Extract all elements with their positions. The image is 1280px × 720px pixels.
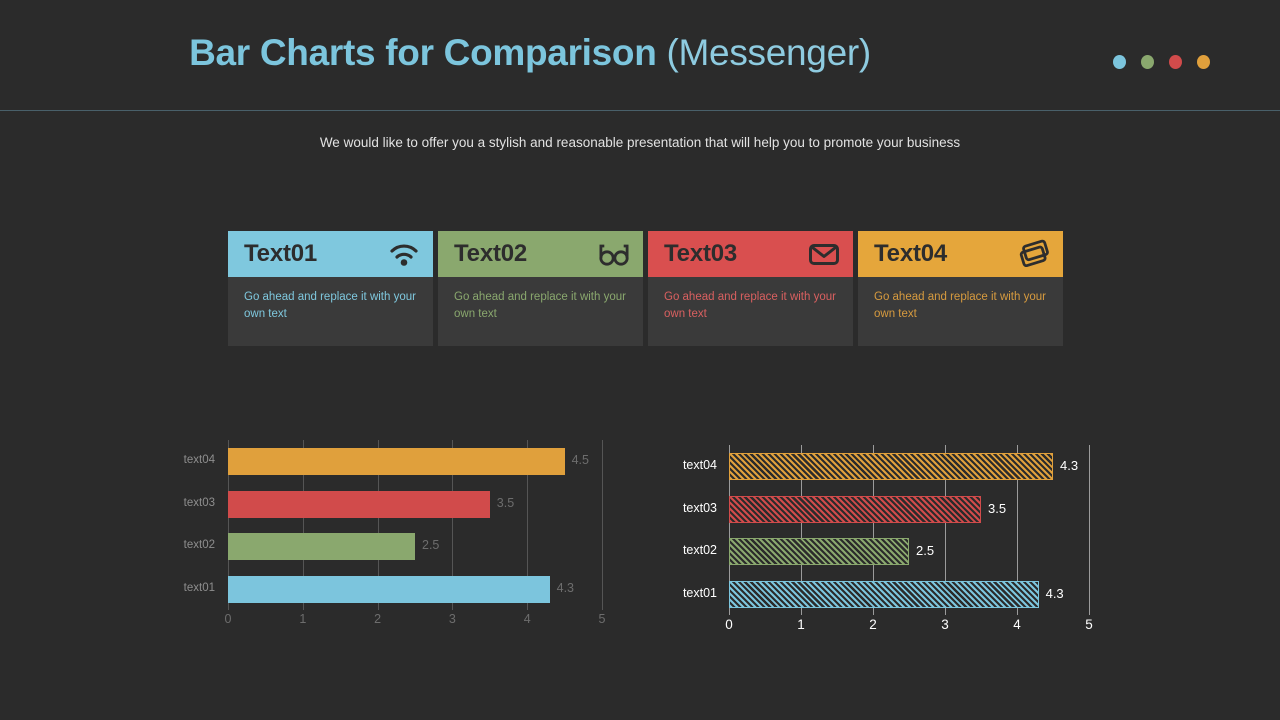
wifi-icon — [387, 238, 421, 270]
header-divider — [0, 110, 1280, 111]
bar-row: text022.5 — [228, 525, 602, 568]
feature-card-text02[interactable]: Text02 Go ahead and replace it with your… — [438, 231, 643, 346]
bar-category-label: text01 — [683, 586, 729, 600]
bar-value-label: 4.5 — [565, 453, 589, 467]
bar-row: text033.5 — [729, 488, 1089, 531]
feature-card-body: Go ahead and replace it with your own te… — [438, 277, 643, 323]
slide: Bar Charts for Comparison (Messenger) We… — [0, 0, 1280, 720]
x-tick-label: 5 — [599, 612, 606, 626]
envelope-stack-icon — [1017, 238, 1051, 270]
dot-orange-icon — [1197, 55, 1210, 69]
bar-category-label: text04 — [683, 458, 729, 472]
bar-row: text014.3 — [228, 568, 602, 611]
gridline — [602, 440, 603, 610]
bar — [228, 491, 490, 518]
x-tick-label: 1 — [299, 612, 306, 626]
page-title: Bar Charts for Comparison (Messenger) — [0, 28, 1060, 78]
page-title-sub: (Messenger) — [667, 32, 871, 73]
feature-card-header: Text02 — [438, 231, 643, 277]
dot-green-icon — [1141, 55, 1154, 69]
feature-card-text01[interactable]: Text01 Go ahead and replace it with your… — [228, 231, 433, 346]
feature-card-title: Text02 — [454, 240, 527, 268]
bar-value-label: 4.3 — [1053, 458, 1078, 473]
bar-row: text044.5 — [228, 440, 602, 483]
plot-area: text044.3text033.5text022.5text014.3 — [729, 445, 1089, 615]
x-tick-label: 4 — [1013, 617, 1021, 632]
bar — [228, 533, 415, 560]
feature-card-body: Go ahead and replace it with your own te… — [648, 277, 853, 323]
bar-row: text014.3 — [729, 573, 1089, 616]
feature-card-body: Go ahead and replace it with your own te… — [228, 277, 433, 323]
bar — [228, 448, 565, 475]
plot-area: text044.5text033.5text022.5text014.3 — [228, 440, 602, 610]
bar-category-label: text01 — [184, 582, 228, 594]
header-dots — [1110, 55, 1220, 71]
bar — [729, 453, 1053, 480]
x-axis-ticks: 012345 — [729, 617, 1089, 643]
bar-category-label: text04 — [184, 454, 228, 466]
bar-value-label: 2.5 — [909, 543, 934, 558]
x-tick-label: 3 — [449, 612, 456, 626]
x-tick-label: 2 — [374, 612, 381, 626]
feature-card-text04[interactable]: Text04 Go ahead and replace it with your… — [858, 231, 1063, 346]
bar-category-label: text02 — [184, 539, 228, 551]
bar-value-label: 4.3 — [550, 581, 574, 595]
x-axis-ticks: 012345 — [228, 612, 602, 638]
glasses-icon — [597, 238, 631, 270]
bar — [729, 496, 981, 523]
bar-chart-hatched: text044.3text033.5text022.5text014.3 012… — [660, 445, 1110, 650]
feature-card-title: Text04 — [874, 240, 947, 268]
feature-card-title: Text03 — [664, 240, 737, 268]
bar — [228, 576, 550, 603]
feature-card-header: Text03 — [648, 231, 853, 277]
x-tick-label: 2 — [869, 617, 877, 632]
bar-value-label: 4.3 — [1039, 586, 1064, 601]
feature-card-header: Text01 — [228, 231, 433, 277]
dot-blue-icon — [1113, 55, 1126, 69]
slide-header: Bar Charts for Comparison (Messenger) — [0, 0, 1280, 110]
section-divider: This is an example text. — [0, 375, 1280, 420]
bar-category-label: text03 — [683, 501, 729, 515]
subtitle: We would like to offer you a stylish and… — [0, 135, 1280, 150]
bar-value-label: 3.5 — [490, 496, 514, 510]
gridline — [1089, 445, 1090, 615]
envelope-icon — [807, 238, 841, 270]
feature-card-body: Go ahead and replace it with your own te… — [858, 277, 1063, 323]
bar-category-label: text03 — [184, 497, 228, 509]
bar-value-label: 2.5 — [415, 538, 439, 552]
bar-chart-solid: text044.5text033.5text022.5text014.3 012… — [160, 440, 620, 650]
x-tick-label: 4 — [524, 612, 531, 626]
page-title-main: Bar Charts for Comparison — [189, 32, 656, 73]
dot-red-icon — [1169, 55, 1182, 69]
bar-category-label: text02 — [683, 543, 729, 557]
bar — [729, 538, 909, 565]
bar-value-label: 3.5 — [981, 501, 1006, 516]
feature-cards: Text01 Go ahead and replace it with your… — [228, 231, 1064, 346]
bar — [729, 581, 1039, 608]
bar-row: text022.5 — [729, 530, 1089, 573]
x-tick-label: 5 — [1085, 617, 1093, 632]
x-tick-label: 3 — [941, 617, 949, 632]
feature-card-header: Text04 — [858, 231, 1063, 277]
x-tick-label: 1 — [797, 617, 805, 632]
x-tick-label: 0 — [225, 612, 232, 626]
bar-row: text033.5 — [228, 483, 602, 526]
feature-card-title: Text01 — [244, 240, 317, 268]
bar-row: text044.3 — [729, 445, 1089, 488]
x-tick-label: 0 — [725, 617, 733, 632]
feature-card-text03[interactable]: Text03 Go ahead and replace it with your… — [648, 231, 853, 346]
